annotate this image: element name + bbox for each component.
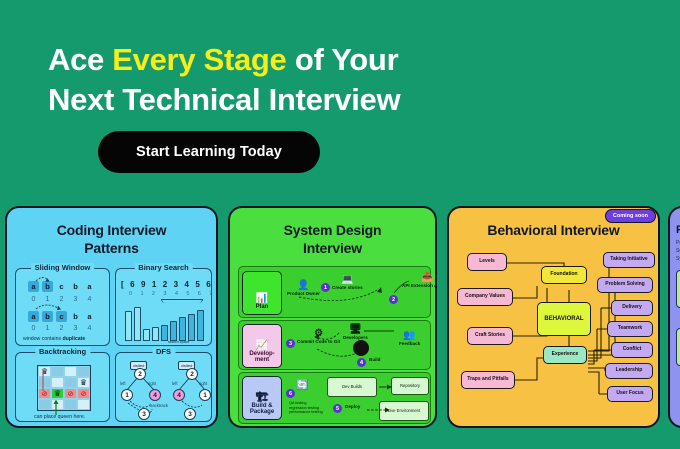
- nq-cell-place: ♛: [51, 388, 64, 399]
- dfs-leaf-node: 3: [184, 408, 196, 420]
- bar: [134, 307, 141, 341]
- headline-line2: Next Technical Interview: [48, 82, 400, 117]
- arr-cell: b: [70, 281, 81, 292]
- card-systemdesign-title: System Design Interview: [230, 222, 435, 257]
- arr-cell: a: [84, 281, 95, 292]
- systemdesign-row-build-package: 🏗 Build & Package 6 🔄 QA testing regress…: [238, 372, 431, 424]
- nq-cell: [64, 366, 77, 377]
- dfs-node: 1: [121, 389, 133, 401]
- arr-cell: a: [28, 311, 39, 322]
- arr-index: 3: [70, 294, 81, 305]
- systemdesign-node-label: API Extension after too: [402, 283, 437, 288]
- dfs-node: 1: [199, 389, 211, 401]
- systemdesign-node-label: Build: [369, 357, 380, 362]
- caption-emphasis: duplicate: [63, 336, 86, 342]
- systemdesign-box-dev-builds: Dev Builds: [327, 377, 377, 397]
- card-fourth-subline: Sy: [676, 256, 680, 262]
- systemdesign-step: 6: [286, 389, 295, 398]
- bar: [188, 314, 195, 341]
- nq-cell-blocked: ⊘: [38, 388, 51, 399]
- bar: [161, 325, 168, 341]
- behavioral-node-conflict: Conflict: [611, 342, 653, 358]
- systemdesign-box-label: Dev Builds: [342, 385, 362, 390]
- behavioral-node-levels: Levels: [467, 253, 507, 271]
- systemdesign-node-api-extension: 📤 API Extension after too: [402, 273, 437, 288]
- nq-cell: [51, 399, 64, 410]
- bar: [125, 311, 132, 341]
- card-coding-title-line1: Coding Interview: [57, 222, 167, 238]
- nq-cell-blocked: ⊘: [64, 388, 77, 399]
- desktop-icon: 🖥: [343, 325, 368, 335]
- card-fourth-box: [676, 328, 680, 366]
- binary-search-array: [ 6 9 1 2 3 4 5 6 7 ]: [121, 280, 218, 289]
- panel-backtracking-label: Backtracking: [35, 347, 90, 356]
- dfs-backtrack-label: backtrack: [150, 403, 168, 408]
- systemdesign-tile-dev-label: Develop- ment: [249, 351, 274, 364]
- refresh-cycle-icon: 🔄: [296, 381, 308, 391]
- panel-sliding-window: Sliding Window a b c b a 0 1 2 3 4: [15, 268, 110, 346]
- card-behavioral-interview[interactable]: Coming soon Behavioral Interview: [447, 206, 660, 428]
- behavioral-node-leadership: Leadership: [605, 363, 653, 379]
- nq-cell: [51, 366, 64, 377]
- panel-sliding-window-label: Sliding Window: [31, 263, 95, 272]
- dfs-node: 2: [186, 368, 198, 380]
- binary-search-brace-caption: search space: [168, 340, 189, 344]
- crane-icon: 🏗: [256, 393, 269, 403]
- systemdesign-node-product-owner: 👤 Product Owner: [287, 281, 320, 296]
- nqueens-grid: ♛ ♛ ⊘ ♛ ⊘ ⊘: [37, 365, 91, 411]
- dfs-edge-label: left: [172, 381, 178, 386]
- nq-cell: [77, 366, 90, 377]
- behavioral-node-teamwork: Teamwork: [607, 321, 653, 337]
- arr-index: 0: [28, 323, 39, 334]
- systemdesign-box-label: Repository: [400, 384, 420, 389]
- binary-search-brace: [161, 299, 203, 303]
- card-system-design-interview[interactable]: System Design Interview 📊 Plan 👤 Product…: [228, 206, 437, 428]
- arr-index: 1: [42, 323, 53, 334]
- bar: [152, 327, 159, 341]
- binary-search-bars: [125, 307, 204, 341]
- systemdesign-step: 3: [286, 339, 295, 348]
- sliding-window-row1: a b c b a: [28, 281, 95, 292]
- nq-cell: ♛: [38, 366, 51, 377]
- systemdesign-step: 1: [321, 283, 330, 292]
- systemdesign-tile-plan: 📊 Plan: [242, 271, 282, 315]
- dfs-node: 4: [149, 389, 161, 401]
- systemdesign-tile-pkg-label: Build & Package: [250, 403, 274, 416]
- behavioral-node-center: BEHAVIORAL: [537, 302, 591, 336]
- systemdesign-node-build: Build: [369, 357, 380, 362]
- sliding-window-row1-indices: 0 1 2 3 4: [28, 294, 95, 305]
- behavioral-node-experience: Experience: [543, 346, 587, 364]
- arr-cell: a: [84, 311, 95, 322]
- chart-icon: 📈: [256, 341, 268, 351]
- card-fourth-title: F: [676, 224, 680, 236]
- card-fourth-subline: Su: [676, 248, 680, 254]
- arr-index: 0: [28, 294, 39, 305]
- behavioral-node-taking-initiative: Taking Initiative: [603, 252, 655, 268]
- systemdesign-tile-plan-label: Plan: [256, 304, 269, 311]
- arr-cell: b: [42, 311, 53, 322]
- arr-index: 4: [84, 294, 95, 305]
- behavioral-node-company-values: Company Values: [457, 288, 513, 306]
- panel-backtracking: Backtracking ♛ ♛ ⊘ ♛ ⊘ ⊘: [15, 352, 110, 422]
- binary-search-indices: 0 1 2 3 4 5 6 7 8: [129, 291, 218, 297]
- headline-part2: of Your: [287, 42, 399, 77]
- systemdesign-tile-build-package: 🏗 Build & Package: [242, 376, 282, 420]
- nq-cell: [77, 399, 90, 410]
- backtracking-caption: can place queen here.: [34, 414, 85, 420]
- behavioral-node-delivery: Delivery: [611, 300, 653, 316]
- systemdesign-box-live-environment: Live Environment: [379, 401, 429, 421]
- systemdesign-node-label: Product Owner: [287, 291, 320, 296]
- card-systemdesign-title-line2: Interview: [303, 240, 362, 256]
- card-behavioral-title: Behavioral Interview: [449, 222, 658, 240]
- sliding-window-caption: window contains duplicate: [23, 336, 85, 342]
- page-title: Ace Every Stage of Your Next Technical I…: [48, 40, 648, 119]
- nq-cell: [64, 377, 77, 388]
- card-coding-title-line2: Patterns: [84, 240, 138, 256]
- nq-cell: [51, 377, 64, 388]
- dfs-edge-label: right: [199, 381, 207, 386]
- systemdesign-box-repository: Repository: [391, 377, 429, 395]
- behavioral-node-problem-solving: Problem Solving: [597, 277, 653, 293]
- behavioral-node-foundation: Foundation: [541, 266, 587, 284]
- nq-cell: [38, 377, 51, 388]
- nq-cell: [38, 399, 51, 410]
- arr-index: 1: [42, 294, 53, 305]
- person-icon: 👤: [287, 281, 320, 291]
- systemdesign-step: 4: [357, 358, 366, 367]
- panel-dfs-label: DFS: [152, 347, 175, 356]
- sliding-window-row2-indices: 0 1 2 3 4: [28, 323, 95, 334]
- systemdesign-node-feedback: 👥 Feedback: [399, 331, 420, 346]
- card-fourth-subline: Pr: [676, 240, 680, 246]
- card-fourth-box: [676, 270, 680, 308]
- card-coding-title: Coding Interview Patterns: [7, 222, 216, 257]
- arr-cell: b: [70, 311, 81, 322]
- arr-index: 4: [84, 323, 95, 334]
- panel-binary-search: Binary Search [ 6 9 1 2 3 4 5 6 7 ] 0 1 …: [115, 268, 212, 346]
- plan-icon: 📊: [256, 294, 268, 304]
- hero-section: Ace Every Stage of Your Next Technical I…: [0, 0, 680, 198]
- panel-dfs: DFS visited visited 2 1 4 2 4 1 3: [115, 352, 212, 422]
- systemdesign-node-commit-code: ⚙ Commit Code to Git: [297, 329, 340, 344]
- headline-accent: Every Stage: [112, 42, 286, 77]
- card-behavioral-title-line1: Behavioral Interview: [487, 222, 619, 238]
- systemdesign-qa-note: QA testing regression testing performanc…: [289, 401, 323, 415]
- systemdesign-node-developers: 🖥 Developers: [343, 325, 368, 340]
- dfs-leaf-node: 3: [138, 408, 150, 420]
- dfs-edge-label: left: [120, 381, 126, 386]
- systemdesign-node-label: Create stories: [332, 285, 363, 290]
- bar: [170, 321, 177, 341]
- gear-monitor-icon: ⚙: [297, 329, 340, 339]
- systemdesign-box-label: Live Environment: [388, 409, 420, 414]
- systemdesign-node-label: Developers: [343, 335, 368, 340]
- dfs-node: 4: [173, 389, 185, 401]
- caption-prefix: window contains: [23, 336, 63, 342]
- behavioral-node-user-focus: User Focus: [607, 386, 653, 402]
- bar: [179, 317, 186, 341]
- systemdesign-node-label: Commit Code to Git: [297, 339, 340, 344]
- systemdesign-node-deploy: Deploy: [345, 404, 360, 409]
- systemdesign-step: 5: [333, 404, 342, 413]
- bar: [143, 329, 150, 341]
- course-card-carousel[interactable]: Coding Interview Patterns Sliding Window…: [0, 198, 680, 433]
- card-fourth-partial[interactable]: F Pr Su Sy: [668, 206, 680, 428]
- systemdesign-row-plan: 📊 Plan 👤 Product Owner 1 💻 Create storie…: [238, 266, 431, 318]
- dfs-node: 2: [134, 368, 146, 380]
- behavioral-node-craft-stories: Craft Stories: [467, 327, 513, 345]
- coming-soon-badge: Coming soon: [605, 209, 656, 223]
- behavioral-node-traps-pitfalls: Traps and Pitfalls: [461, 371, 515, 389]
- systemdesign-node-label: Deploy: [345, 404, 360, 409]
- arr-cell: a: [28, 281, 39, 292]
- systemdesign-step: 2: [389, 295, 398, 304]
- arr-index: 2: [56, 294, 67, 305]
- arr-cell: b: [42, 281, 53, 292]
- arr-index: 2: [56, 323, 67, 334]
- systemdesign-node-create-stories: 💻 Create stories: [332, 275, 363, 290]
- cloud-stack-icon: 📤: [402, 273, 437, 283]
- nq-cell: ♛: [77, 377, 90, 388]
- systemdesign-row-development: 📈 Develop- ment 3 ⚙ Commit Code to Git 🖥…: [238, 320, 431, 370]
- dfs-edge-label: right: [148, 381, 156, 386]
- users-icon: 👥: [399, 331, 420, 341]
- systemdesign-tile-development: 📈 Develop- ment: [242, 324, 282, 368]
- headline-part1: Ace: [48, 42, 112, 77]
- bar: [197, 310, 204, 341]
- sliding-window-row2: a b c b a: [28, 311, 95, 322]
- arr-index: 3: [70, 323, 81, 334]
- nq-cell: [64, 399, 77, 410]
- nq-cell-blocked: ⊘: [77, 388, 90, 399]
- panel-binary-search-label: Binary Search: [134, 263, 192, 272]
- arr-cell: c: [56, 311, 67, 322]
- arr-cell: c: [56, 281, 67, 292]
- systemdesign-node-label: Feedback: [399, 341, 420, 346]
- card-coding-interview-patterns[interactable]: Coding Interview Patterns Sliding Window…: [5, 206, 218, 428]
- start-learning-button[interactable]: Start Learning Today: [98, 131, 320, 173]
- card-systemdesign-title-line1: System Design: [284, 222, 382, 238]
- monitor-icon: 💻: [332, 275, 363, 285]
